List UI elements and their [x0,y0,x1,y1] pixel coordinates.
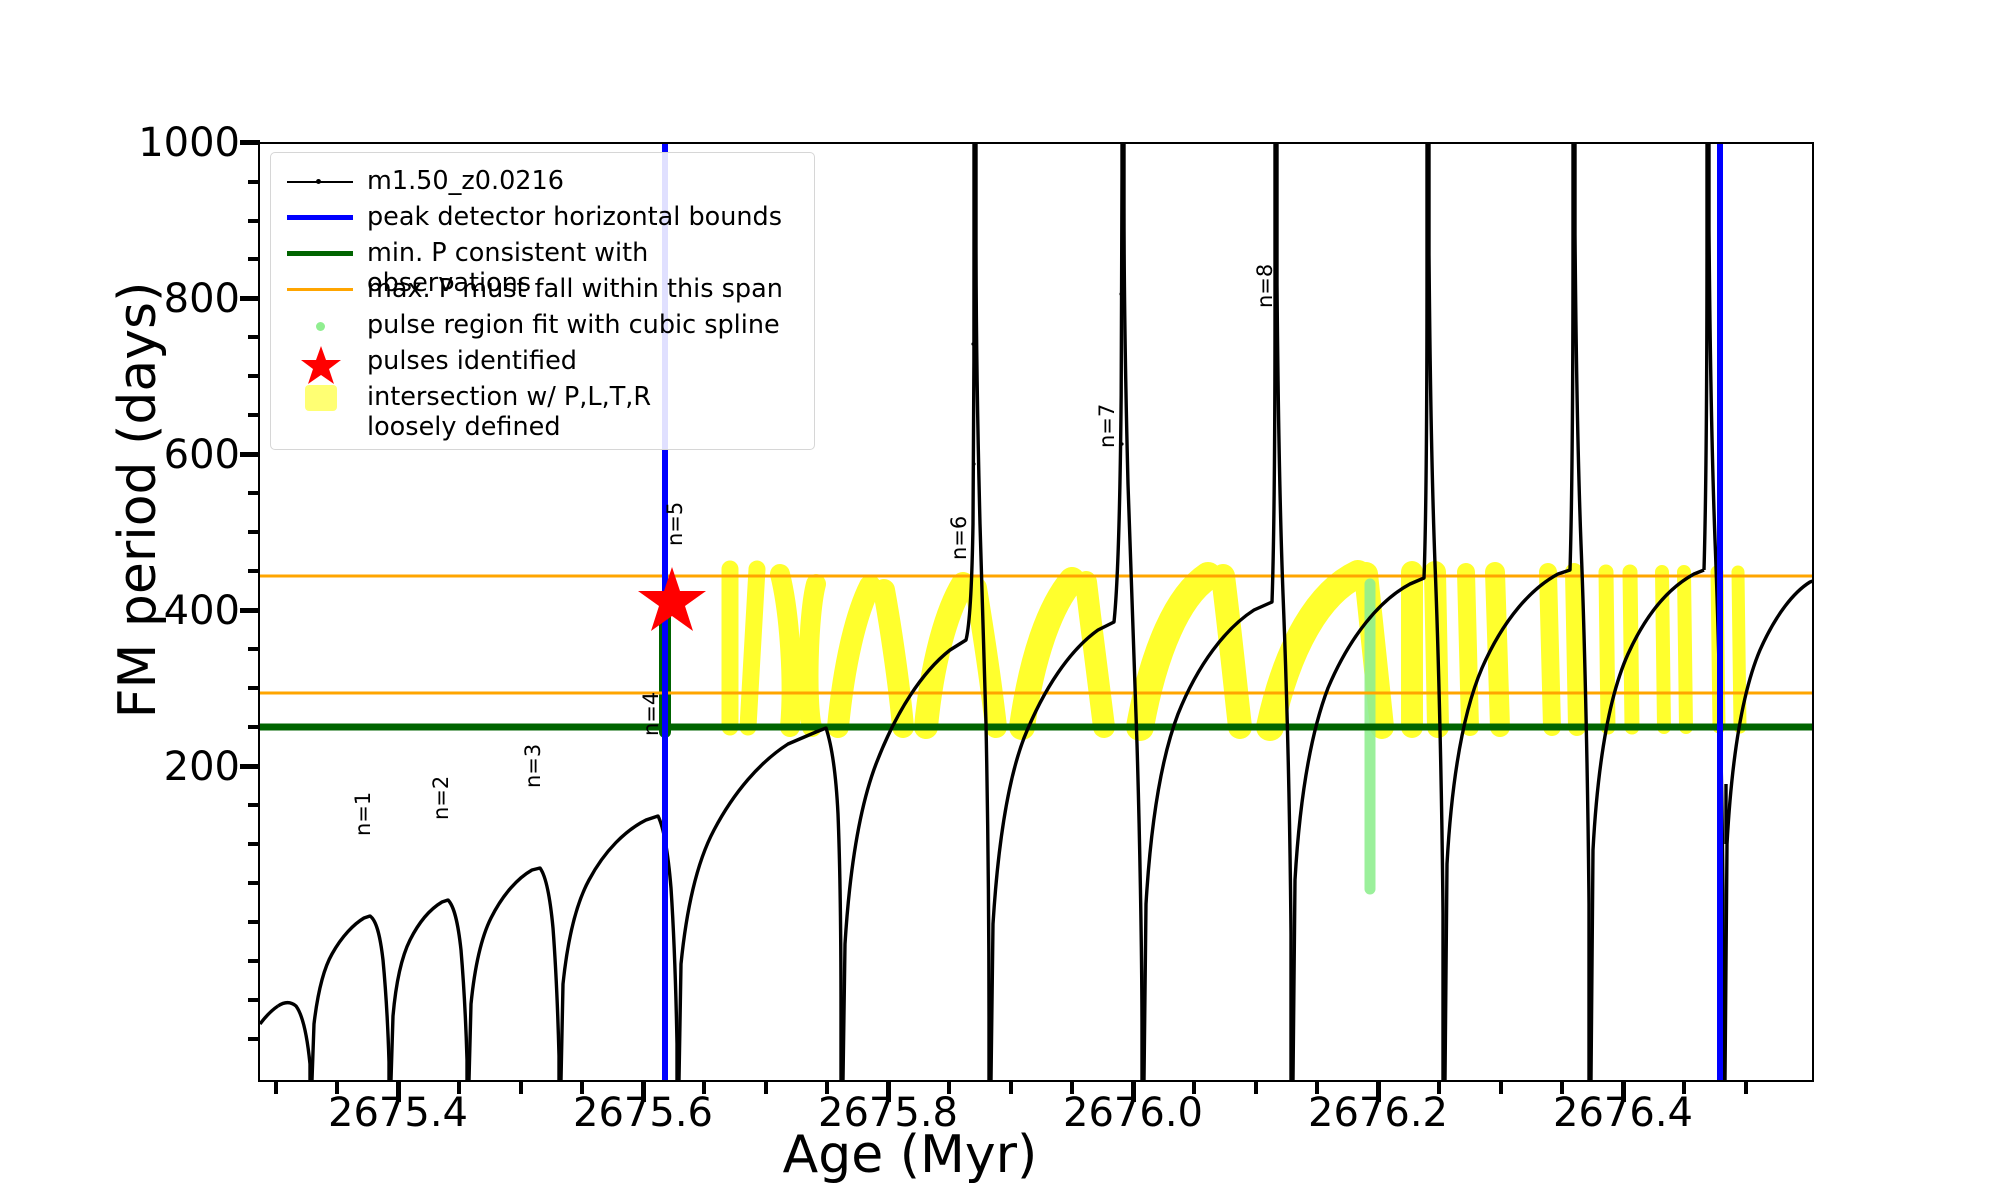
legend-label-spline: pulse region fit with cubic spline [359,307,780,340]
intersection-band [1495,572,1500,727]
intersection-band [1548,572,1552,727]
y-tickmark-major [240,608,260,613]
intersection-band [1086,582,1104,727]
intersection-band [1223,576,1240,727]
x-tickmark-minor [947,1082,951,1094]
intersection-band [1022,580,1072,727]
pulse-label-n1: n=1 [351,792,375,836]
x-tickmark-minor [1315,1082,1319,1094]
x-tickmark-major [1376,1082,1381,1102]
x-tickmark-minor [1560,1082,1564,1094]
figure-canvas: FM period (days) Age (Myr) 1000 800 600 … [0,0,2000,1200]
legend-item-peak-bounds[interactable]: peak detector horizontal bounds [283,199,802,235]
x-tickmark-minor [1254,1082,1258,1094]
y-tickmark-major [240,140,260,145]
x-tickmark-minor [580,1082,584,1094]
legend-key-green-dot [283,307,359,343]
intersection-band [1738,572,1740,727]
intersection-band [1662,572,1664,727]
legend-label-peak-bounds: peak detector horizontal bounds [359,199,782,232]
x-tickmark-minor [335,1082,339,1094]
intersection-band [1574,572,1577,727]
x-tickmark-minor [1437,1082,1441,1094]
y-tickmark-major [240,764,260,769]
intersection-band [884,590,903,727]
y-tick-1000: 1000 [40,120,240,166]
pulse-label-n7: n=7 [1095,404,1119,448]
x-tickmark-minor [457,1082,461,1094]
x-tickmark-minor [1009,1082,1013,1094]
legend-key-blue-line [283,199,359,235]
intersection-band-group [730,569,1740,727]
x-tickmark-minor [519,1082,523,1094]
y-tick-200: 200 [40,744,240,790]
legend-item-max-period[interactable]: max. P must fall within this span [283,271,802,307]
intersection-band [809,584,816,727]
x-tickmark-minor [1070,1082,1074,1094]
pulse-label-n5: n=5 [663,502,687,546]
x-tickmark-minor [1499,1082,1503,1094]
x-tickmark-major [641,1082,646,1102]
x-tickmark-major [396,1082,401,1102]
x-tickmark-minor [702,1082,706,1094]
pulse-label-n2: n=2 [429,776,453,820]
intersection-band [748,569,757,727]
legend-key-green-line [283,235,359,271]
intersection-band [780,574,792,727]
pulse-label-n8: n=8 [1253,264,1277,308]
intersection-band [838,586,870,727]
legend-key-yellow-square [283,379,359,415]
x-tickmark-minor [1744,1082,1748,1094]
x-tickmark-major [886,1082,891,1102]
legend-item-pulses[interactable]: pulses identified [283,343,802,379]
legend-key-red-star [283,343,359,379]
legend-label-pulses: pulses identified [359,343,577,376]
x-tickmark-minor [764,1082,768,1094]
legend-label-max-period: max. P must fall within this span [359,271,783,304]
legend-label-model: m1.50_z0.0216 [359,163,564,196]
pulse-label-n3: n=3 [521,744,545,788]
x-tickmark-minor [1682,1082,1686,1094]
x-tickmark-minor [1192,1082,1196,1094]
x-tickmark-major [1621,1082,1626,1102]
legend-label-intersection: intersection w/ P,L,T,R loosely defined [359,379,651,442]
intersection-band [1684,572,1686,727]
pulse-label-n4: n=4 [639,692,663,736]
x-tickmark-major [1131,1082,1136,1102]
legend: m1.50_z0.0216 peak detector horizontal b… [270,152,815,450]
legend-key-orange-line [283,271,359,307]
y-tick-800: 800 [40,276,240,322]
y-tick-600: 600 [40,432,240,478]
y-tick-400: 400 [40,588,240,634]
x-tickmark-minor [274,1082,278,1094]
intersection-band [1606,572,1608,727]
legend-item-model[interactable]: m1.50_z0.0216 [283,163,802,199]
legend-item-spline[interactable]: pulse region fit with cubic spline [283,307,802,343]
y-tickmark-major [240,452,260,457]
y-tickmark-major [240,296,260,301]
pulse-label-n6: n=6 [947,516,971,560]
intersection-band [1140,576,1208,727]
legend-key-line-marker [283,163,359,199]
x-tickmark-minor [825,1082,829,1094]
legend-item-min-period[interactable]: min. P consistent with observations [283,235,802,271]
legend-item-intersection[interactable]: intersection w/ P,L,T,R loosely defined [283,379,802,437]
